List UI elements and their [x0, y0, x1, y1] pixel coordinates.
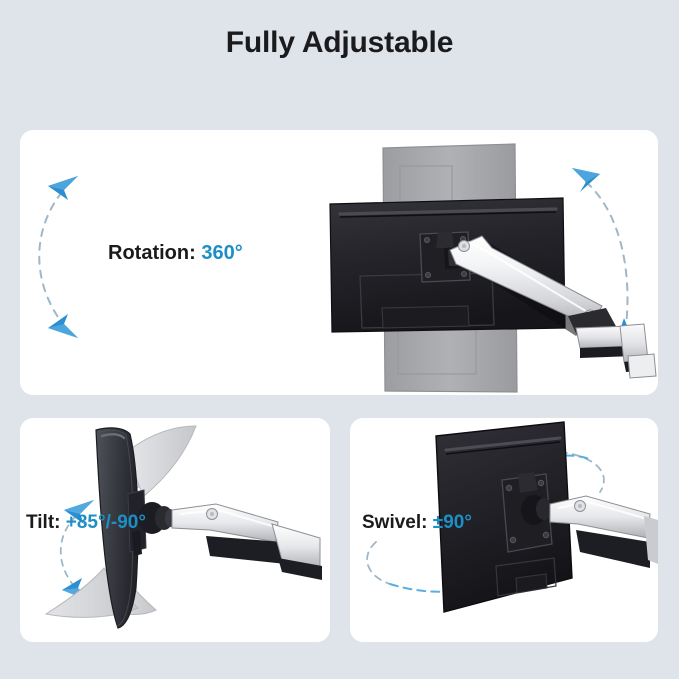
- spec-label-swivel-value: ±90°: [433, 512, 472, 533]
- tilt-arm-silver: [172, 504, 322, 580]
- page-title: Fully Adjustable: [0, 26, 679, 60]
- spec-label-tilt-static: Tilt:: [26, 512, 60, 533]
- spec-label-rotation: Rotation: 360°: [108, 242, 243, 265]
- tilt-ghost-down: [46, 566, 156, 617]
- rotation-arc-left: [39, 192, 62, 320]
- spec-label-swivel-static: Swivel:: [362, 512, 427, 533]
- spec-label-rotation-static: Rotation:: [108, 242, 196, 264]
- spec-label-tilt: Tilt: +85°/-90°: [26, 512, 146, 534]
- spec-label-tilt-value: +85°/-90°: [66, 512, 146, 533]
- vesa-mount-plate-swivel: [502, 472, 552, 552]
- panel-rotation: Rotation: 360°: [20, 130, 658, 395]
- infographic-root: Fully Adjustable: [0, 0, 679, 679]
- spec-label-swivel: Swivel: ±90°: [362, 512, 472, 534]
- rotation-arrow-left-bottom: [48, 314, 78, 338]
- spec-label-rotation-value: 360°: [201, 242, 242, 264]
- panel-tilt: Tilt: +85°/-90°: [20, 418, 330, 642]
- rotation-arrow-right-top: [572, 168, 600, 192]
- monitor-rear-landscape: [330, 198, 565, 332]
- panel-swivel: Swivel: ±90°: [350, 418, 658, 642]
- tilt-ghost-up-blade: [132, 426, 196, 496]
- rotation-arrow-left-top: [48, 176, 78, 200]
